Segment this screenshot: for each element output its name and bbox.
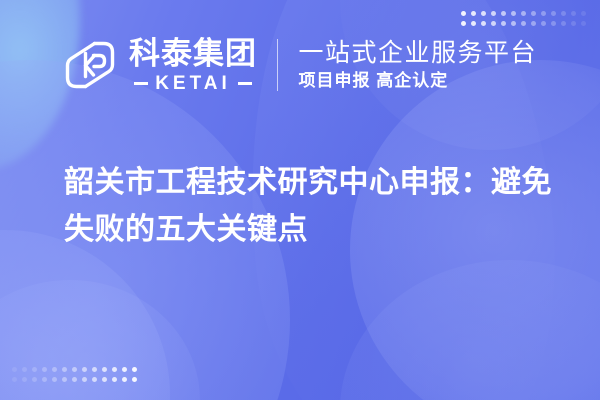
- ketai-logo-wordmark: 科泰集团 KETAI: [129, 38, 257, 93]
- decorative-shape-bottom-left: [0, 280, 200, 400]
- dot: [42, 367, 47, 372]
- dot: [581, 11, 586, 16]
- tagline-block: 一站式企业服务平台 项目申报 高企认定: [298, 40, 537, 91]
- dot-row: [12, 367, 137, 372]
- dot: [501, 21, 506, 26]
- dot: [571, 21, 576, 26]
- dot: [102, 367, 107, 372]
- dot-row: [461, 21, 586, 26]
- dot: [112, 367, 117, 372]
- decorative-shape-bottom-right: [340, 260, 600, 400]
- dot: [541, 21, 546, 26]
- dot: [491, 11, 496, 16]
- dot: [82, 367, 87, 372]
- dot: [521, 21, 526, 26]
- dot: [561, 11, 566, 16]
- tagline-sub: 项目申报 高企认定: [298, 72, 537, 91]
- dot-row: [461, 11, 586, 16]
- dot: [32, 377, 37, 382]
- dot: [132, 367, 137, 372]
- header-divider: [277, 39, 279, 91]
- dot: [72, 377, 77, 382]
- dot: [571, 11, 576, 16]
- dot: [581, 21, 586, 26]
- dot: [471, 21, 476, 26]
- company-name-cn: 科泰集团: [129, 38, 257, 71]
- dot: [52, 367, 57, 372]
- dot: [42, 377, 47, 382]
- dot: [52, 377, 57, 382]
- dot: [521, 11, 526, 16]
- dot-grid-top-right: [461, 11, 586, 26]
- dot: [22, 377, 27, 382]
- dot: [551, 11, 556, 16]
- dot: [481, 11, 486, 16]
- dot: [491, 21, 496, 26]
- dot: [92, 367, 97, 372]
- company-name-en-row: KETAI: [129, 74, 257, 93]
- dot: [22, 367, 27, 372]
- dot: [92, 377, 97, 382]
- dot: [62, 377, 67, 382]
- dot: [12, 377, 17, 382]
- company-name-en: KETAI: [155, 74, 231, 93]
- ketai-diamond-kp-mark-icon: [63, 38, 117, 92]
- dot: [541, 11, 546, 16]
- tagline-main: 一站式企业服务平台: [298, 40, 537, 68]
- dot: [531, 21, 536, 26]
- article-cover-banner: 科泰集团 KETAI 一站式企业服务平台 项目申报 高企认定 韶关市工程技术研究…: [0, 0, 600, 400]
- dot: [82, 377, 87, 382]
- dot: [62, 367, 67, 372]
- dot: [461, 21, 466, 26]
- page-title: 韶关市工程技术研究中心申报：避免失败的五大关键点: [64, 160, 564, 253]
- dash-left-icon: [134, 82, 148, 85]
- dash-right-icon: [238, 82, 252, 85]
- dot: [122, 367, 127, 372]
- ketai-logo: 科泰集团 KETAI: [63, 38, 257, 93]
- dot: [32, 367, 37, 372]
- dot: [481, 21, 486, 26]
- dot: [551, 21, 556, 26]
- dot: [531, 11, 536, 16]
- dot: [12, 367, 17, 372]
- dot: [122, 377, 127, 382]
- dot: [501, 11, 506, 16]
- dot: [511, 21, 516, 26]
- dot: [112, 377, 117, 382]
- dot: [132, 377, 137, 382]
- dot: [471, 11, 476, 16]
- dot-row: [12, 377, 137, 382]
- dot-grid-bottom-left: [12, 367, 137, 382]
- dot: [72, 367, 77, 372]
- dot: [511, 11, 516, 16]
- dot: [561, 21, 566, 26]
- dot: [461, 11, 466, 16]
- dot: [102, 377, 107, 382]
- banner-header: 科泰集团 KETAI 一站式企业服务平台 项目申报 高企认定: [0, 38, 600, 93]
